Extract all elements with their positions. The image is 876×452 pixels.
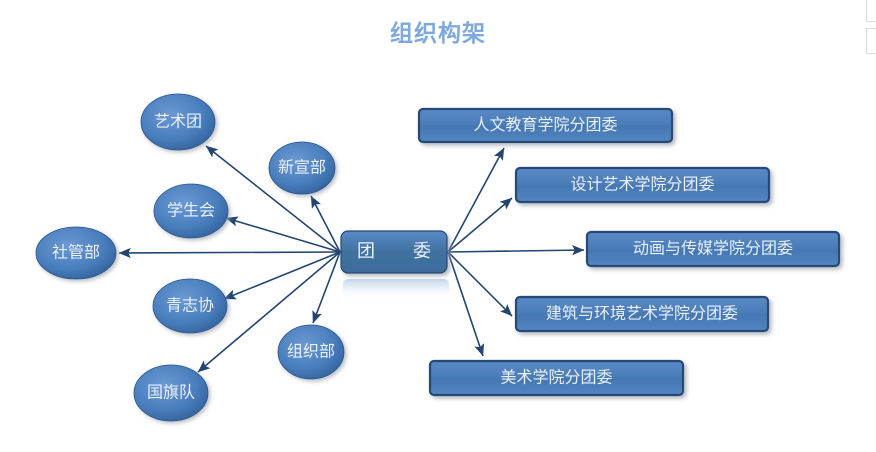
connector-arrow-right-3 <box>448 252 512 316</box>
right-branch-label-3: 建筑与环境艺术学院分团委 <box>546 304 738 323</box>
right-branch-node-0[interactable]: 人文教育学院分团委 <box>419 109 672 142</box>
left-branch-node-5[interactable]: 组织部 <box>278 325 344 379</box>
connector-arrow-left-2 <box>226 218 340 252</box>
left-branch-label-2: 学生会 <box>167 202 215 220</box>
left-branch-node-0[interactable]: 艺术团 <box>141 94 215 150</box>
right-branch-node-2[interactable]: 动画与传媒学院分团委 <box>587 232 839 266</box>
left-branch-node-2[interactable]: 学生会 <box>154 184 228 238</box>
connector-arrow-right-1 <box>448 198 512 252</box>
left-branch-label-1: 新宣部 <box>278 159 326 177</box>
connector-arrow-left-4 <box>224 252 340 299</box>
top-right-box-2[interactable] <box>866 28 876 54</box>
right-branch-label-2: 动画与传媒学院分团委 <box>633 240 793 258</box>
left-branch-node-4[interactable]: 青志协 <box>153 279 227 333</box>
connector-arrow-right-2 <box>448 250 584 252</box>
right-branch-label-4: 美术学院分团委 <box>500 369 612 387</box>
left-branch-node-6[interactable]: 国旗队 <box>134 365 208 421</box>
right-branch-node-1[interactable]: 设计艺术学院分团委 <box>516 168 769 202</box>
center-node-label: 团 委 <box>357 241 441 261</box>
left-branch-label-0: 艺术团 <box>154 113 202 131</box>
right-branch-node-4[interactable]: 美术学院分团委 <box>430 361 683 395</box>
right-branch-node-3[interactable]: 建筑与环境艺术学院分团委 <box>516 297 768 331</box>
left-branch-node-3[interactable]: 社管部 <box>36 227 116 279</box>
right-branch-label-0: 人文教育学院分团委 <box>473 116 617 134</box>
center-node-reflection <box>343 279 449 301</box>
center-node-group[interactable]: 团 委 <box>341 231 449 301</box>
top-right-box-1[interactable] <box>866 0 876 22</box>
connector-arrow-right-0 <box>448 148 504 252</box>
right-branch-label-1: 设计艺术学院分团委 <box>570 176 714 194</box>
left-branch-node-1[interactable]: 新宣部 <box>269 142 335 194</box>
connector-arrow-right-4 <box>448 252 483 356</box>
slide-canvas: 组织构架 <box>0 0 876 452</box>
left-branch-label-6: 国旗队 <box>147 384 195 402</box>
org-chart-diagram: 人文教育学院分团委设计艺术学院分团委动画与传媒学院分团委建筑与环境艺术学院分团委… <box>0 0 876 452</box>
left-branch-label-4: 青志协 <box>166 297 214 315</box>
connector-arrow-left-1 <box>311 196 340 252</box>
left-branch-label-3: 社管部 <box>52 244 100 262</box>
connector-arrow-left-3 <box>119 252 340 253</box>
left-branch-label-5: 组织部 <box>287 343 335 361</box>
left-branch-nodes: 艺术团新宣部学生会社管部青志协组织部国旗队 <box>36 94 344 421</box>
